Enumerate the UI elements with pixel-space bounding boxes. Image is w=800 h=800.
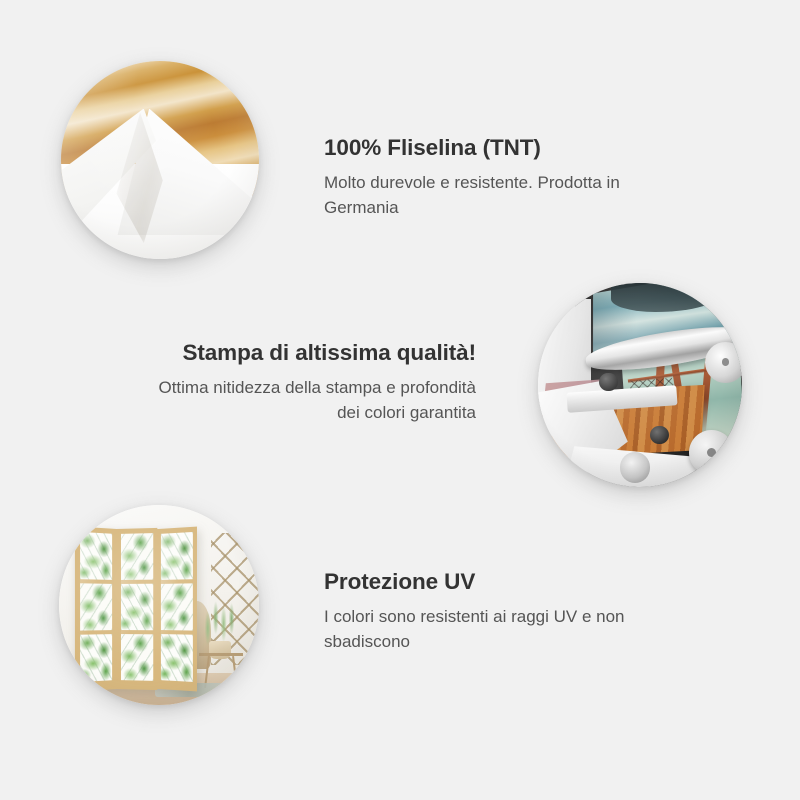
image-vignette xyxy=(538,283,742,487)
feature-description-print-quality: Ottima nitidezza della stampa e profondi… xyxy=(150,376,476,426)
image-vignette xyxy=(59,505,259,705)
feature-text-fliselina: 100% Fliselina (TNT) Molto durevole e re… xyxy=(324,134,664,221)
feature-image-print-quality xyxy=(538,283,742,487)
wallpaper-roll-curled-corner-photo xyxy=(61,61,259,259)
tropical-room-divider-photo xyxy=(59,505,259,705)
feature-image-fliselina xyxy=(61,61,259,259)
feature-title-print-quality: Stampa di altissima qualità! xyxy=(150,339,476,367)
large-format-printer-photo xyxy=(538,283,742,487)
feature-description-uv-protection: I colori sono resistenti ai raggi UV e n… xyxy=(324,605,664,655)
feature-description-fliselina: Molto durevole e resistente. Prodotta in… xyxy=(324,171,664,221)
feature-title-fliselina: 100% Fliselina (TNT) xyxy=(324,134,664,162)
image-vignette xyxy=(61,61,259,259)
feature-image-uv-protection xyxy=(59,505,259,705)
feature-text-uv-protection: Protezione UV I colori sono resistenti a… xyxy=(324,568,664,655)
feature-text-print-quality: Stampa di altissima qualità! Ottima niti… xyxy=(150,339,476,426)
feature-title-uv-protection: Protezione UV xyxy=(324,568,664,596)
feature-list: 100% Fliselina (TNT) Molto durevole e re… xyxy=(0,0,800,800)
